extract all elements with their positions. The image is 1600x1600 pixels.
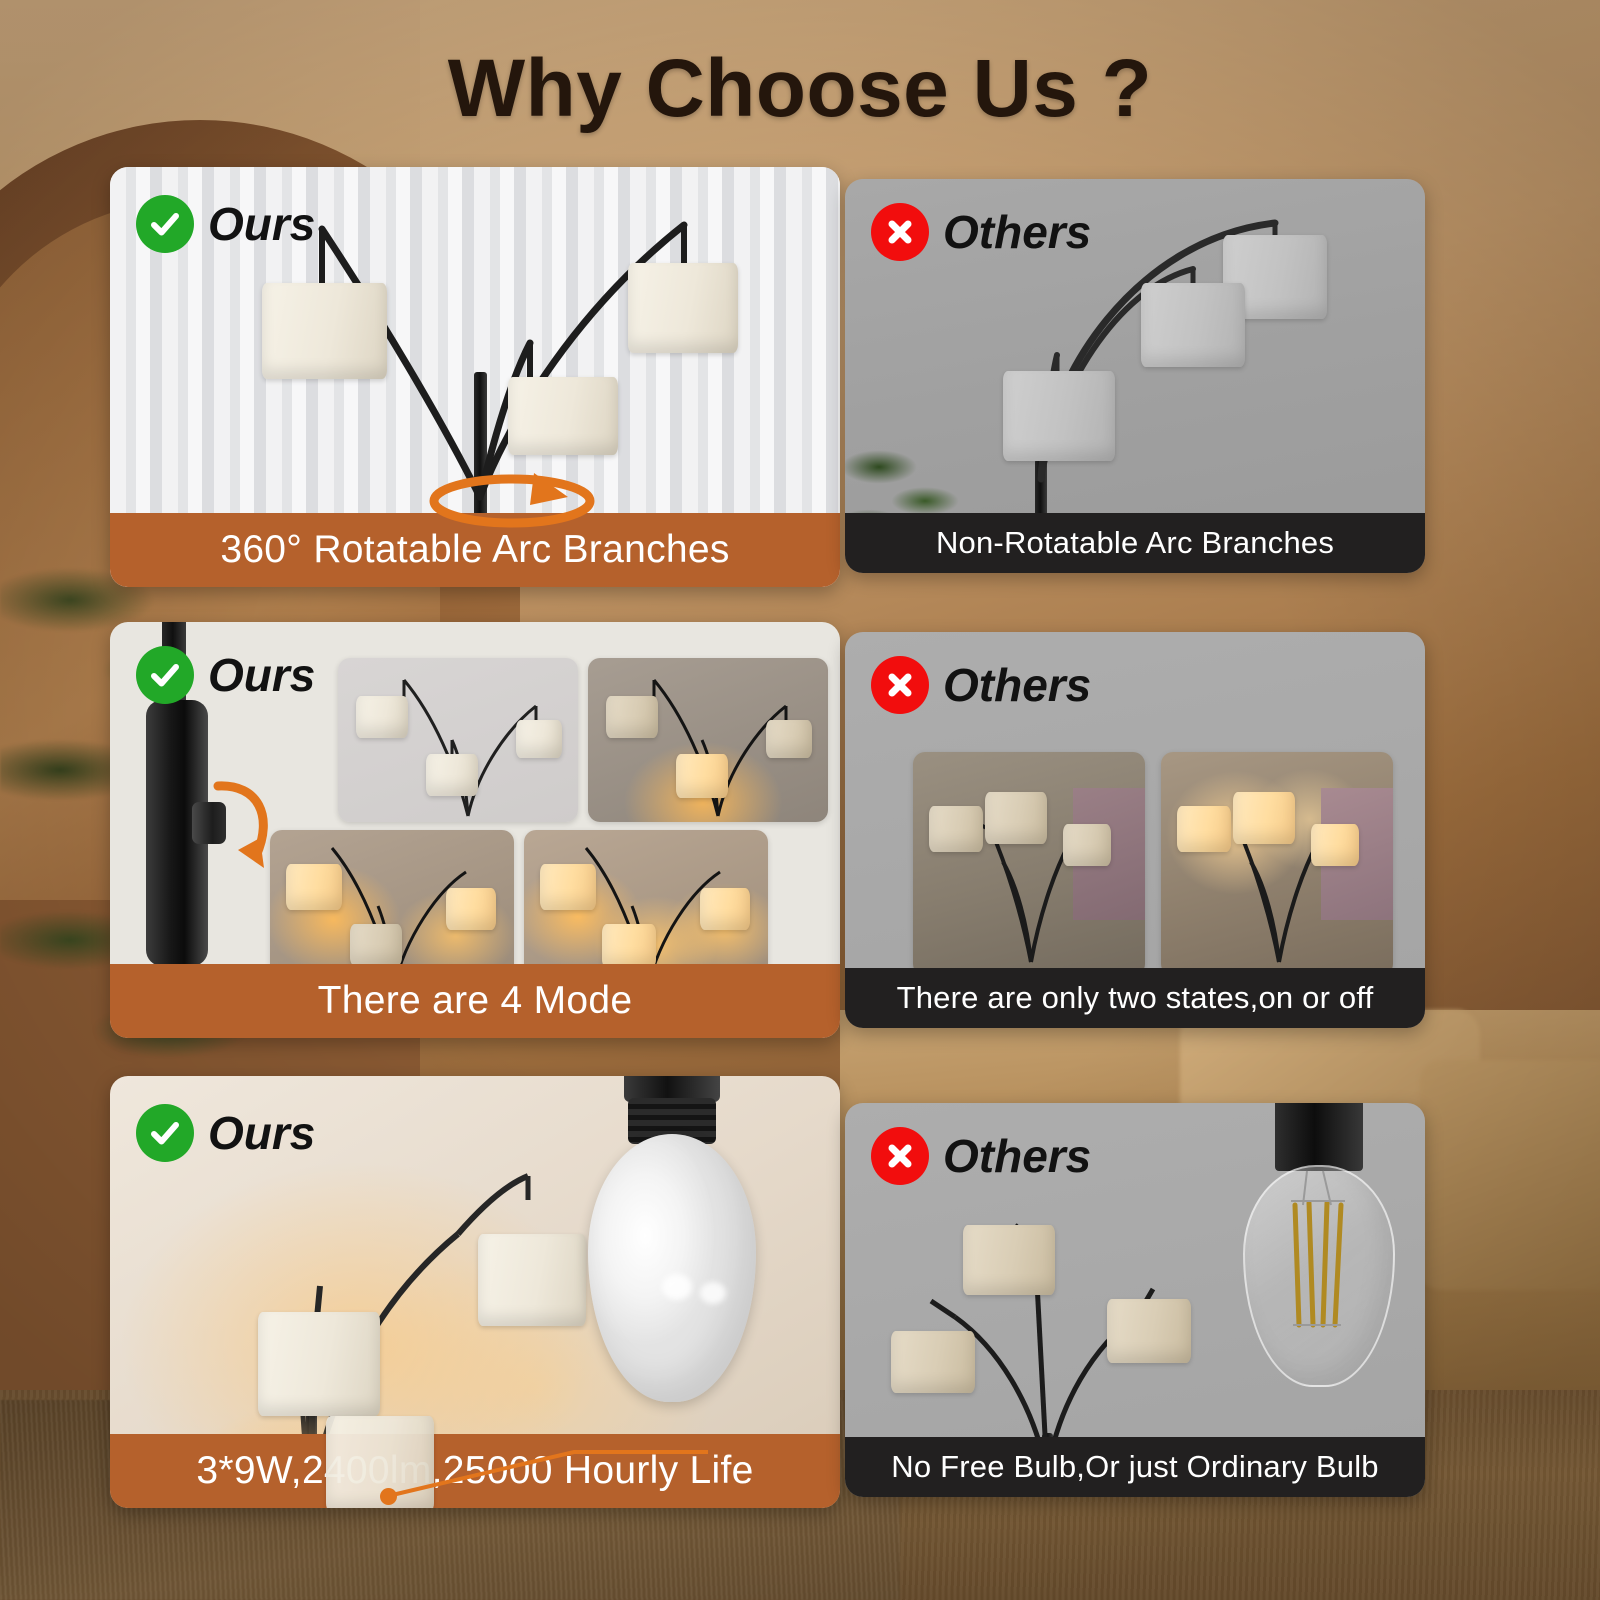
check-icon [136,646,194,704]
lamp-shade [258,1312,380,1416]
card-others-bulb: Others No Free Bulb,Or just Ordinary Bul… [845,1103,1425,1497]
badge-ours: Ours [136,195,315,253]
cross-icon [871,1127,929,1185]
badge-ours: Ours [136,646,315,704]
badge-label-ours: Ours [208,652,315,698]
infographic-page: Why Choose Us ? [0,0,1600,1600]
badge-label-others: Others [943,209,1091,255]
badge-others: Others [871,656,1091,714]
led-bulb-icon [576,1076,766,1428]
lamp-shade [1003,371,1115,461]
rotation-arrow-icon [412,457,612,547]
lamp-shade [1107,1299,1191,1363]
card-ours-bulb: Ours 3*9W,2400lm,25000 Hourly Life [110,1076,840,1508]
card-ours-rotation: Ours 360° Rotatable Arc Branches [110,167,840,587]
check-icon [136,195,194,253]
caption-others-modes: There are only two states,on or off [845,968,1425,1028]
lamp-shade [508,377,618,455]
check-icon [136,1104,194,1162]
badge-label-others: Others [943,1133,1091,1179]
card-others-rotation: Others Non-Rotatable Arc Branches [845,179,1425,573]
caption-others-bulb: No Free Bulb,Or just Ordinary Bulb [845,1437,1425,1497]
lamp-shade [478,1234,586,1326]
caption-ours-modes: There are 4 Mode [110,964,840,1038]
badge-label-others: Others [943,662,1091,708]
filament-bulb-icon [1223,1103,1413,1423]
page-title: Why Choose Us ? [0,42,1600,136]
badge-label-ours: Ours [208,201,315,247]
lamp-shade [1141,283,1245,367]
mode-thumbnail-1 [338,658,578,822]
card-others-modes: Others There are only two states,on or o… [845,632,1425,1028]
card-ours-modes: Ours There are 4 Mode [110,622,840,1038]
cross-icon [871,203,929,261]
badge-others: Others [871,1127,1091,1185]
mode-thumbnail-2 [588,658,828,822]
lamp-shade [963,1225,1055,1295]
state-thumbnail-on [1161,752,1393,976]
badge-ours: Ours [136,1104,315,1162]
bulb-callout-dot [380,1488,397,1505]
badge-label-ours: Ours [208,1110,315,1156]
cross-icon [871,656,929,714]
lamp-shade [891,1331,975,1393]
lamp-shade [262,283,387,379]
lamp-shade [628,263,738,353]
rotation-arrow-icon [202,772,312,892]
caption-others-rotation: Non-Rotatable Arc Branches [845,513,1425,573]
state-thumbnail-off [913,752,1145,976]
badge-others: Others [871,203,1091,261]
